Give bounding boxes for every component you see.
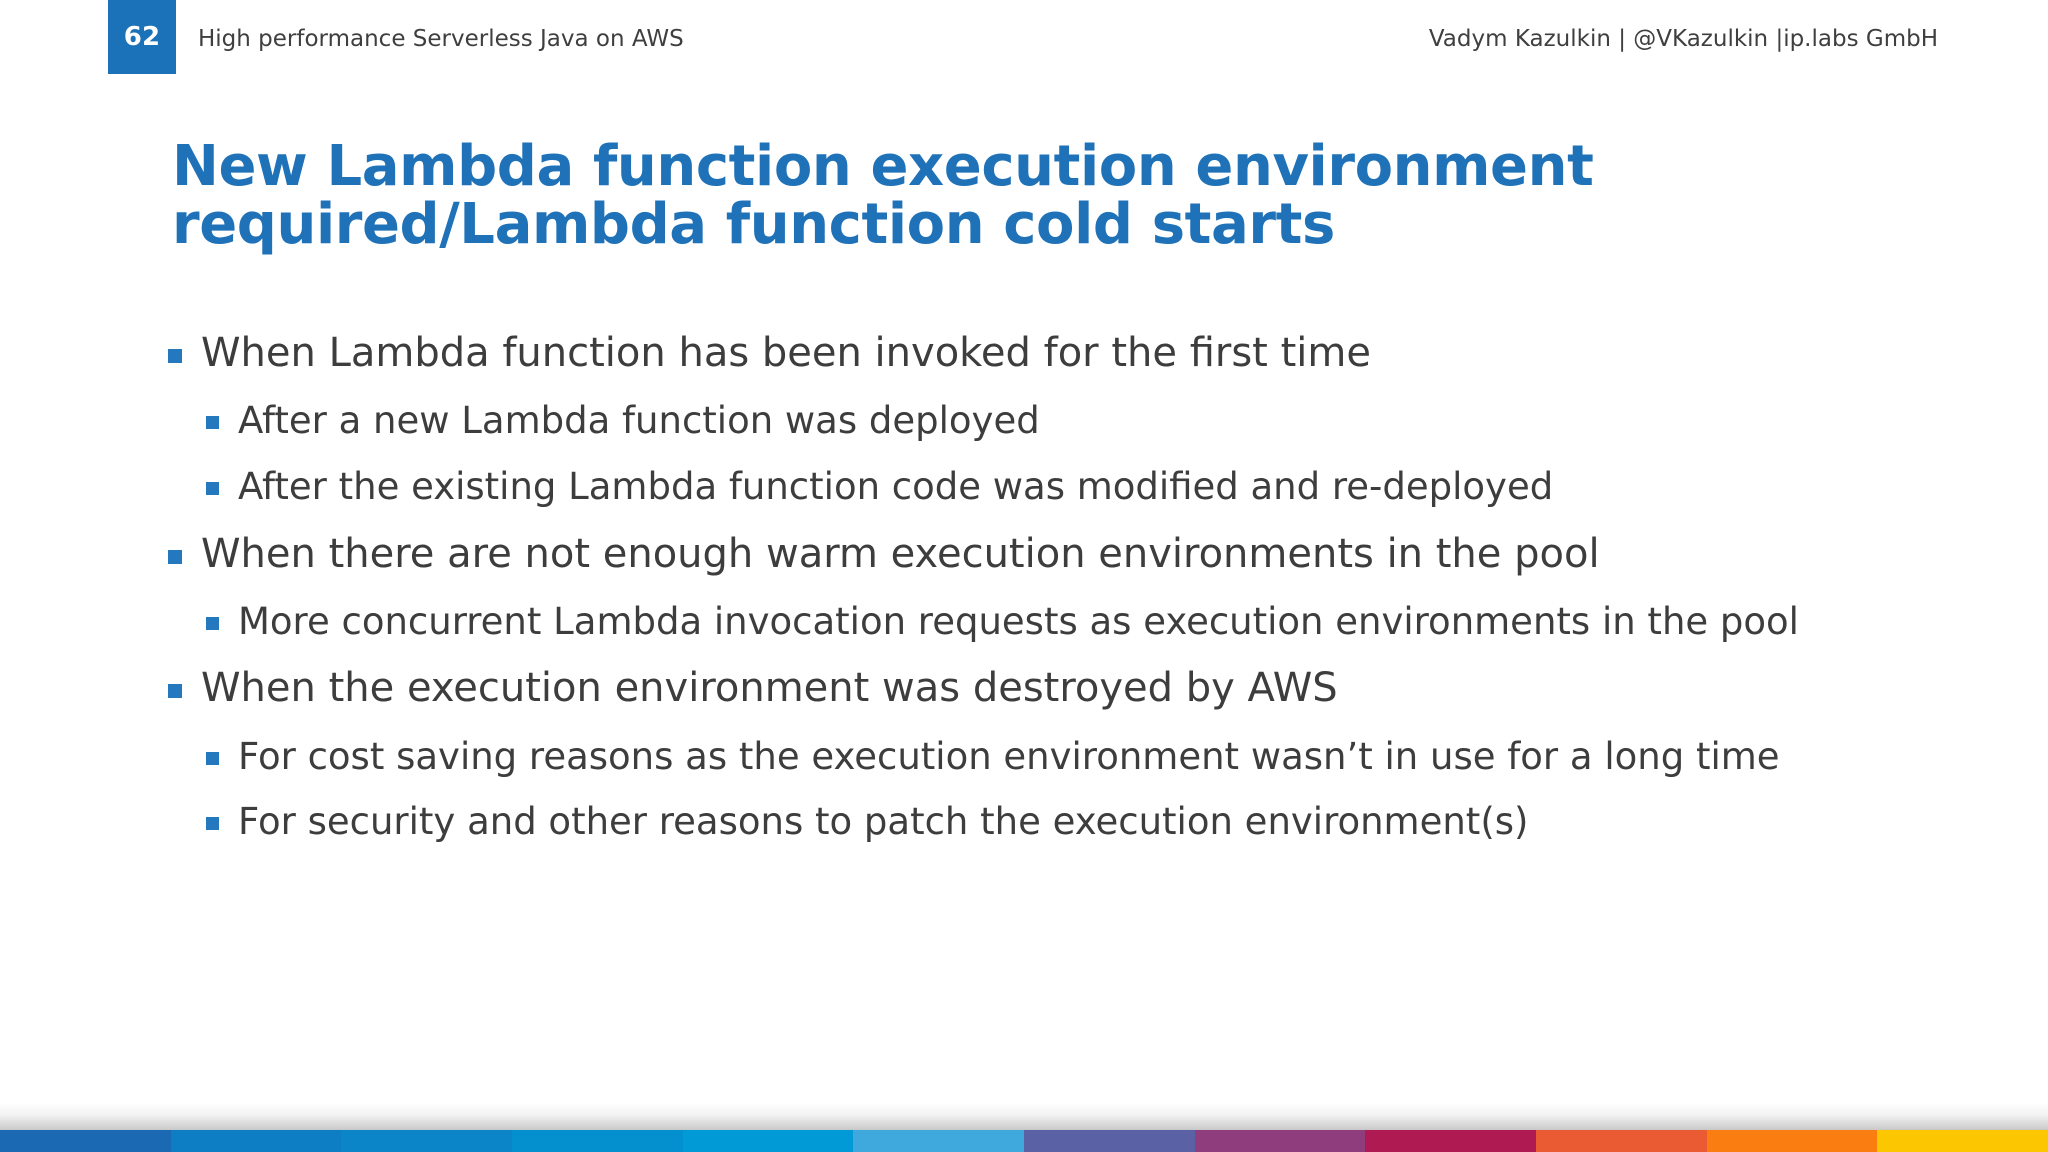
list-item: For cost saving reasons as the execution…	[168, 735, 2048, 779]
slide-number-badge: 62	[108, 0, 176, 74]
footer-color-bands	[0, 1130, 2048, 1152]
list-item-label: After a new Lambda function was deployed	[238, 399, 1040, 443]
slide-number-text: 62	[124, 24, 161, 50]
list-item: When Lambda function has been invoked fo…	[168, 330, 2048, 377]
footer-band-7	[1024, 1130, 1195, 1152]
list-item: For security and other reasons to patch …	[168, 800, 2048, 844]
bullet-list: When Lambda function has been invoked fo…	[168, 330, 2048, 866]
footer-band-9	[1365, 1130, 1536, 1152]
square-bullet-icon	[206, 482, 219, 495]
square-bullet-icon	[206, 817, 219, 830]
footer-band-4	[512, 1130, 683, 1152]
square-bullet-icon	[168, 684, 182, 698]
footer-band-12	[1877, 1130, 2048, 1152]
footer-band-3	[341, 1130, 512, 1152]
author-credit: Vadym Kazulkin | @VKazulkin |ip.labs Gmb…	[1429, 26, 1938, 52]
square-bullet-icon	[206, 752, 219, 765]
slide-header: 62 High performance Serverless Java on A…	[0, 0, 2048, 76]
list-item: After a new Lambda function was deployed	[168, 399, 2048, 443]
footer-band-1	[0, 1130, 171, 1152]
square-bullet-icon	[206, 416, 219, 429]
list-item: When there are not enough warm execution…	[168, 531, 2048, 578]
list-item: After the existing Lambda function code …	[168, 465, 2048, 509]
list-item-label: When Lambda function has been invoked fo…	[201, 330, 1371, 377]
list-item: When the execution environment was destr…	[168, 665, 2048, 712]
square-bullet-icon	[168, 349, 182, 363]
list-item-label: More concurrent Lambda invocation reques…	[238, 600, 1799, 644]
slide: 62 High performance Serverless Java on A…	[0, 0, 2048, 1152]
deck-title: High performance Serverless Java on AWS	[198, 26, 684, 52]
footer-band-2	[171, 1130, 342, 1152]
list-item: More concurrent Lambda invocation reques…	[168, 600, 2048, 644]
list-item-label: When there are not enough warm execution…	[201, 531, 1600, 578]
list-item-label: For cost saving reasons as the execution…	[238, 735, 1780, 779]
list-item-label: After the existing Lambda function code …	[238, 465, 1553, 509]
square-bullet-icon	[168, 550, 182, 564]
page-title-line-1: New Lambda function execution environmen…	[172, 138, 1872, 196]
page-title-line-2: required/Lambda function cold starts	[172, 196, 1872, 254]
list-item-label: When the execution environment was destr…	[201, 665, 1338, 712]
footer-band-6	[853, 1130, 1024, 1152]
page-title: New Lambda function execution environmen…	[172, 138, 1872, 254]
footer-band-10	[1536, 1130, 1707, 1152]
list-item-label: For security and other reasons to patch …	[238, 800, 1528, 844]
square-bullet-icon	[206, 617, 219, 630]
footer-band-5	[683, 1130, 854, 1152]
footer-gradient	[0, 1070, 2048, 1130]
footer-band-11	[1707, 1130, 1878, 1152]
footer-band-8	[1195, 1130, 1366, 1152]
